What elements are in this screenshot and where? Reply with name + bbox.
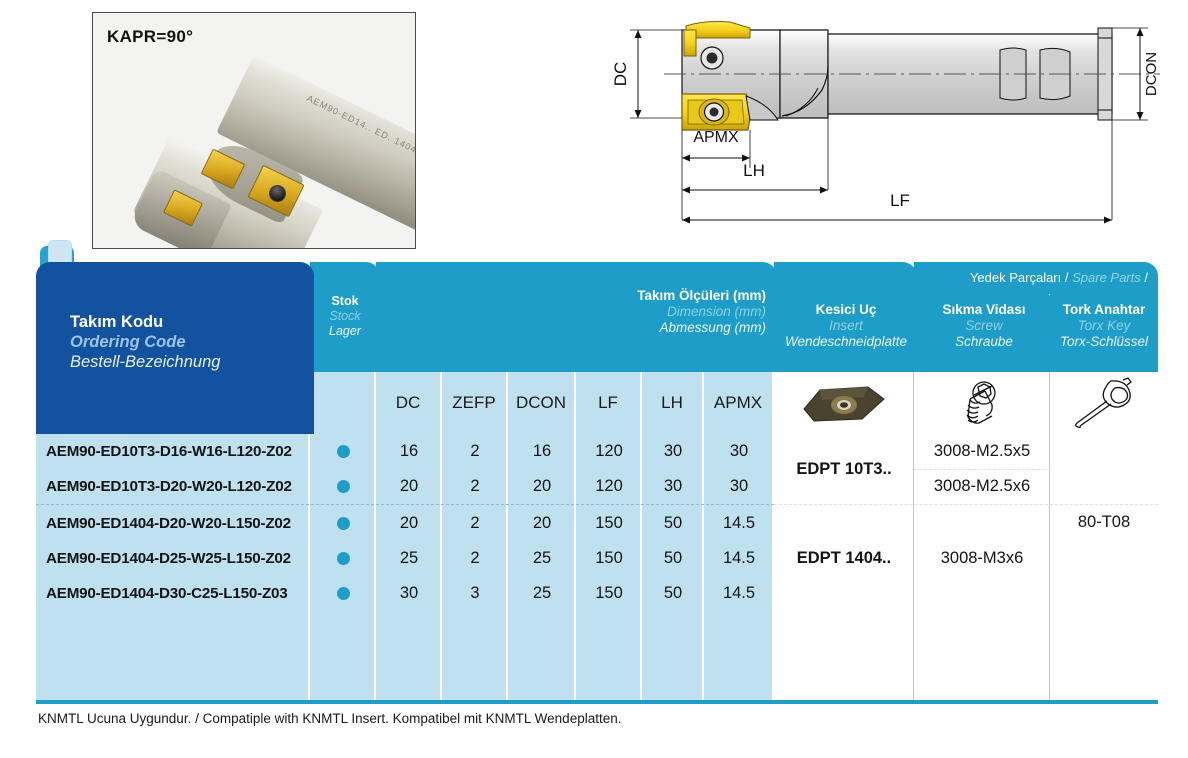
subheader-lh: LH [642, 372, 704, 434]
header-ordering-code: Takım Kodu Ordering Code Bestell-Bezeich… [36, 262, 314, 434]
dimension-label-dc: DC [611, 62, 630, 87]
header-stock-tr: Stok [310, 294, 380, 309]
dimension-label-lh: LH [743, 161, 765, 180]
header-insert-de: Wendeschneidplatte [774, 334, 918, 350]
cell-zefp: 2 [442, 434, 508, 469]
cell-apmx: 14.5 [704, 541, 774, 576]
group-separator [36, 504, 774, 505]
cell-stock [310, 541, 376, 576]
cell-apmx: 30 [704, 469, 774, 504]
torx-key-icon [1067, 377, 1141, 429]
cell-dc: 20 [376, 469, 442, 504]
dimension-label-dcon: DCON [1143, 52, 1160, 96]
header-stock: Stok Stock Lager [310, 262, 380, 372]
header-ordering-en: Ordering Code [70, 332, 220, 352]
header-ordering-de: Bestell-Bezeichnung [70, 352, 220, 372]
cell-lh: 50 [642, 506, 704, 541]
insert-pictogram-cell [774, 372, 914, 434]
subheader-dcon: DCON [508, 372, 576, 434]
header-dimension-de: Abmessung (mm) [637, 320, 766, 336]
cell-stock [310, 576, 376, 611]
cell-lf: 150 [576, 541, 642, 576]
table-bottom-rule [36, 700, 1158, 704]
cell-dc: 25 [376, 541, 442, 576]
kapr-angle-label: KAPR=90° [107, 27, 193, 47]
cell-insert-group: EDPT 1404.. [774, 506, 914, 611]
torx-key-pictogram-cell [1050, 372, 1158, 434]
header-screw-tr: Sıkma Vidası [914, 302, 1054, 318]
header-screw-en: Screw [914, 318, 1054, 334]
cell-lh: 50 [642, 541, 704, 576]
cell-dcon: 20 [508, 469, 576, 504]
cell-lf: 120 [576, 434, 642, 469]
cell-zefp: 2 [442, 469, 508, 504]
cell-zefp: 3 [442, 576, 508, 611]
header-torx-en: Torx Key [1050, 318, 1158, 334]
cell-stock [310, 506, 376, 541]
subheader-lf: LF [576, 372, 642, 434]
cell-apmx: 14.5 [704, 506, 774, 541]
product-photo: AEM90-ED14.. ED. 1404- KAPR=90° [92, 12, 416, 249]
sep: / [1141, 270, 1148, 285]
insert-icon [800, 381, 888, 425]
dimension-label-lf: LF [890, 191, 910, 210]
cell-dcon: 25 [508, 576, 576, 611]
cell-lh: 50 [642, 576, 704, 611]
header-torx-key: Tork Anahtar Torx Key Torx-Schlüssel [1050, 290, 1158, 372]
header-dimension-tr: Takım Ölçüleri (mm) [637, 288, 766, 304]
stock-dot-icon [337, 445, 350, 458]
cell-stock [310, 434, 376, 469]
cell-insert-group: EDPT 10T3.. [774, 434, 914, 504]
stock-dot-icon [337, 517, 350, 530]
cell-lh: 30 [642, 434, 704, 469]
cell-screw: 3008-M2.5x5 [914, 434, 1050, 469]
screw-icon [954, 375, 1010, 431]
cell-lf: 120 [576, 469, 642, 504]
subheader-apmx: APMX [704, 372, 774, 434]
cell-screw: 3008-M2.5x6 [914, 469, 1050, 504]
cell-dc: 30 [376, 576, 442, 611]
cell-dcon: 20 [508, 506, 576, 541]
subheader-stock-blank [310, 372, 376, 434]
cell-dc: 16 [376, 434, 442, 469]
cell-ordering-code: AEM90-ED10T3-D16-W16-L120-Z02 [36, 434, 310, 469]
cell-ordering-code: AEM90-ED1404-D25-W25-L150-Z02 [36, 541, 310, 576]
stock-dot-icon [337, 552, 350, 565]
header-torx-de: Torx-Schlüssel [1050, 334, 1158, 350]
header-stock-en: Stock [310, 309, 380, 324]
header-dimension: Takım Ölçüleri (mm) Dimension (mm) Abmes… [376, 262, 778, 372]
cell-stock [310, 469, 376, 504]
header-screw: Sıkma Vidası Screw Schraube [914, 290, 1054, 372]
cell-apmx: 30 [704, 434, 774, 469]
product-table: Yedek Parçaları / Spare Parts / Ersatzte… [36, 262, 1158, 706]
cell-zefp: 2 [442, 541, 508, 576]
cell-apmx: 14.5 [704, 576, 774, 611]
header-torx-tr: Tork Anahtar [1050, 302, 1158, 318]
header-ordering-tr: Takım Kodu [70, 312, 220, 332]
cell-torx-key: 80-T08 [1050, 434, 1158, 611]
stock-dot-icon [337, 480, 350, 493]
cell-ordering-code: AEM90-ED1404-D20-W20-L150-Z02 [36, 506, 310, 541]
subheader-zefp: ZEFP [442, 372, 508, 434]
stock-dot-icon [337, 587, 350, 600]
screw-pictogram-cell [914, 372, 1050, 434]
cell-lf: 150 [576, 576, 642, 611]
header-stock-de: Lager [310, 324, 380, 339]
header-dimension-en: Dimension (mm) [637, 304, 766, 320]
header-screw-de: Schraube [914, 334, 1054, 350]
subheader-dc: DC [376, 372, 442, 434]
header-insert-en: Insert [774, 318, 918, 334]
sep: / [1061, 270, 1072, 285]
catalog-page: AEM90-ED14.. ED. 1404- KAPR=90° [0, 0, 1188, 758]
technical-drawing: DC DCON APMX LH LF [600, 8, 1180, 240]
footnote: KNMTL Ucuna Uygundur. / Compatiple with … [38, 711, 622, 726]
cell-ordering-code: AEM90-ED10T3-D20-W20-L120-Z02 [36, 469, 310, 504]
cell-lf: 150 [576, 506, 642, 541]
cell-dcon: 25 [508, 541, 576, 576]
header-insert-tr: Kesici Uç [774, 302, 918, 318]
cell-zefp: 2 [442, 506, 508, 541]
header-insert: Kesici Uç Insert Wendeschneidplatte [774, 262, 918, 372]
dimension-label-apmx: APMX [693, 129, 739, 146]
header-spare-parts-tr: Yedek Parçaları [970, 270, 1061, 285]
cell-screw: 3008-M3x6 [914, 506, 1050, 611]
cell-dc: 20 [376, 506, 442, 541]
cell-lh: 30 [642, 469, 704, 504]
cell-ordering-code: AEM90-ED1404-D30-C25-L150-Z03 [36, 576, 310, 611]
table-rows: AEM90-ED10T3-D16-W16-L120-Z02 16 2 16 12… [36, 434, 1158, 700]
cell-dcon: 16 [508, 434, 576, 469]
header-spare-parts-en: Spare Parts [1072, 270, 1141, 285]
